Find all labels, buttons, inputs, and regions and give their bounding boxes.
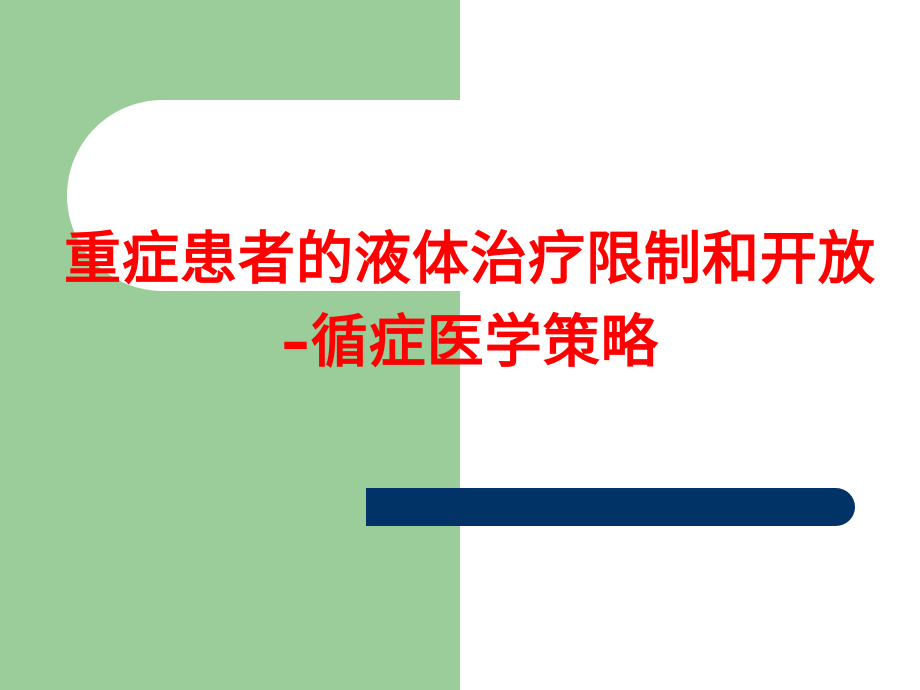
blue-accent-bar bbox=[366, 488, 855, 526]
slide-title: 重症患者的液体治疗限制和开放 –循症医学策略 bbox=[60, 218, 880, 384]
presentation-slide: 重症患者的液体治疗限制和开放 –循症医学策略 bbox=[0, 0, 920, 690]
